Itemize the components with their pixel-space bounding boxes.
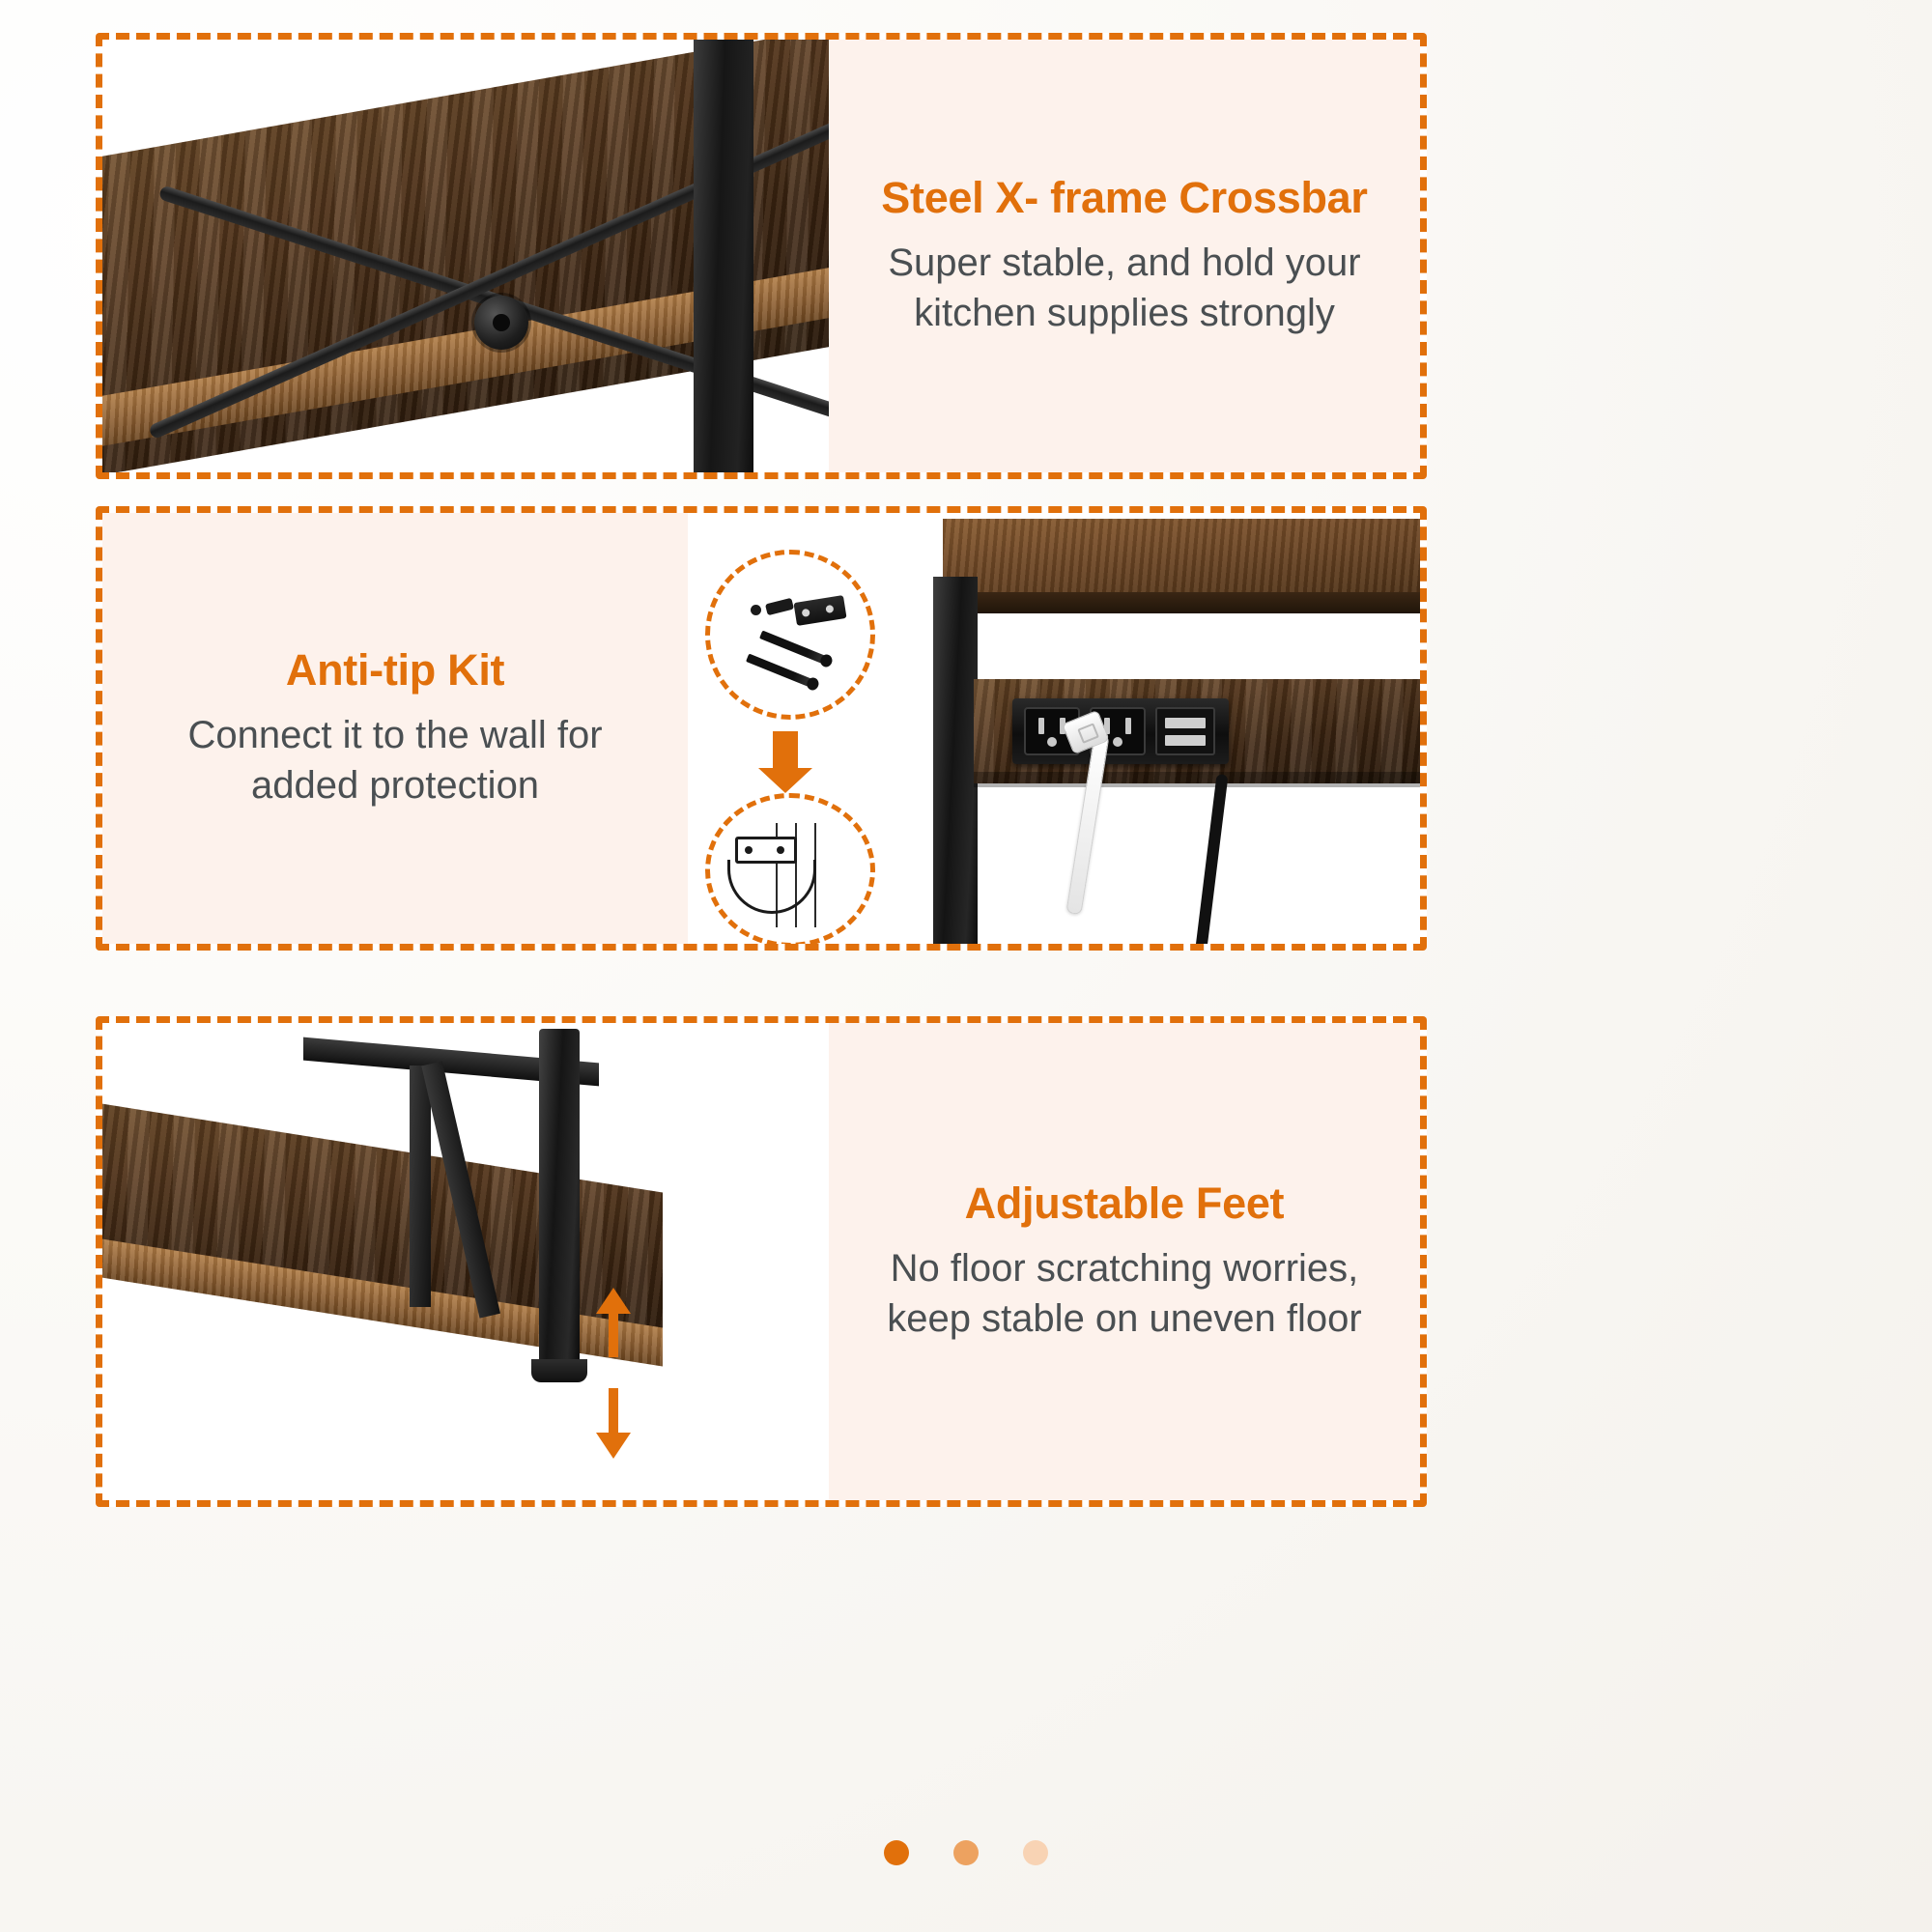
text-block-steel-x-frame: Steel X- frame Crossbar Super stable, an… <box>829 40 1420 472</box>
photo-adjustable-feet <box>102 1023 829 1500</box>
text-block-adjustable-feet: Adjustable Feet No floor scratching worr… <box>829 1023 1420 1500</box>
power-cable <box>1195 774 1229 944</box>
panel-body: No floor scratching worries, keep stable… <box>858 1243 1391 1344</box>
vertical-brace <box>410 1065 431 1307</box>
usb-ports[interactable] <box>1155 707 1215 755</box>
vertical-steel-post <box>933 577 978 944</box>
photo-anti-tip-kit <box>688 513 1420 944</box>
rail-shadow <box>974 772 1420 787</box>
anti-tip-bracket-icon <box>794 595 847 626</box>
feature-panel-adjustable-feet: Adjustable Feet No floor scratching worr… <box>96 1016 1427 1507</box>
installed-bracket-callout-circle <box>705 793 875 944</box>
upper-shelf-board <box>943 519 1420 598</box>
panel-heading: Anti-tip Kit <box>286 646 504 695</box>
steel-leg <box>539 1029 580 1369</box>
crossbar-center-bolt <box>474 296 528 350</box>
photo-steel-x-frame <box>102 40 829 472</box>
power-outlet-module[interactable] <box>1012 698 1229 764</box>
pagination-dot-1[interactable] <box>884 1840 909 1865</box>
arrow-up-icon <box>609 1313 618 1357</box>
adjustable-foot <box>531 1359 587 1382</box>
hardware-callout-circle <box>705 550 875 720</box>
vertical-steel-post <box>694 40 753 472</box>
panel-body: Super stable, and hold your kitchen supp… <box>873 238 1376 338</box>
down-arrow-icon <box>773 731 798 768</box>
pagination-dot-3[interactable] <box>1023 1840 1048 1865</box>
wall-plug-icon <box>765 598 794 615</box>
rack-with-power-outlet <box>916 513 1420 944</box>
pagination-dots[interactable] <box>0 1840 1932 1865</box>
upper-shelf-underside <box>943 592 1420 613</box>
panel-heading: Steel X- frame Crossbar <box>881 174 1367 222</box>
arrow-down-icon <box>609 1388 618 1433</box>
feature-panel-steel-x-frame: Steel X- frame Crossbar Super stable, an… <box>96 33 1427 479</box>
text-block-anti-tip-kit: Anti-tip Kit Connect it to the wall for … <box>102 513 688 944</box>
pagination-dot-2[interactable] <box>953 1840 979 1865</box>
panel-heading: Adjustable Feet <box>965 1179 1285 1228</box>
washer-icon <box>751 605 761 615</box>
feature-panel-anti-tip-kit: Anti-tip Kit Connect it to the wall for … <box>96 506 1427 951</box>
screw-icon <box>746 653 815 688</box>
screw-icon <box>759 630 829 665</box>
panel-body: Connect it to the wall for added protect… <box>139 710 651 810</box>
